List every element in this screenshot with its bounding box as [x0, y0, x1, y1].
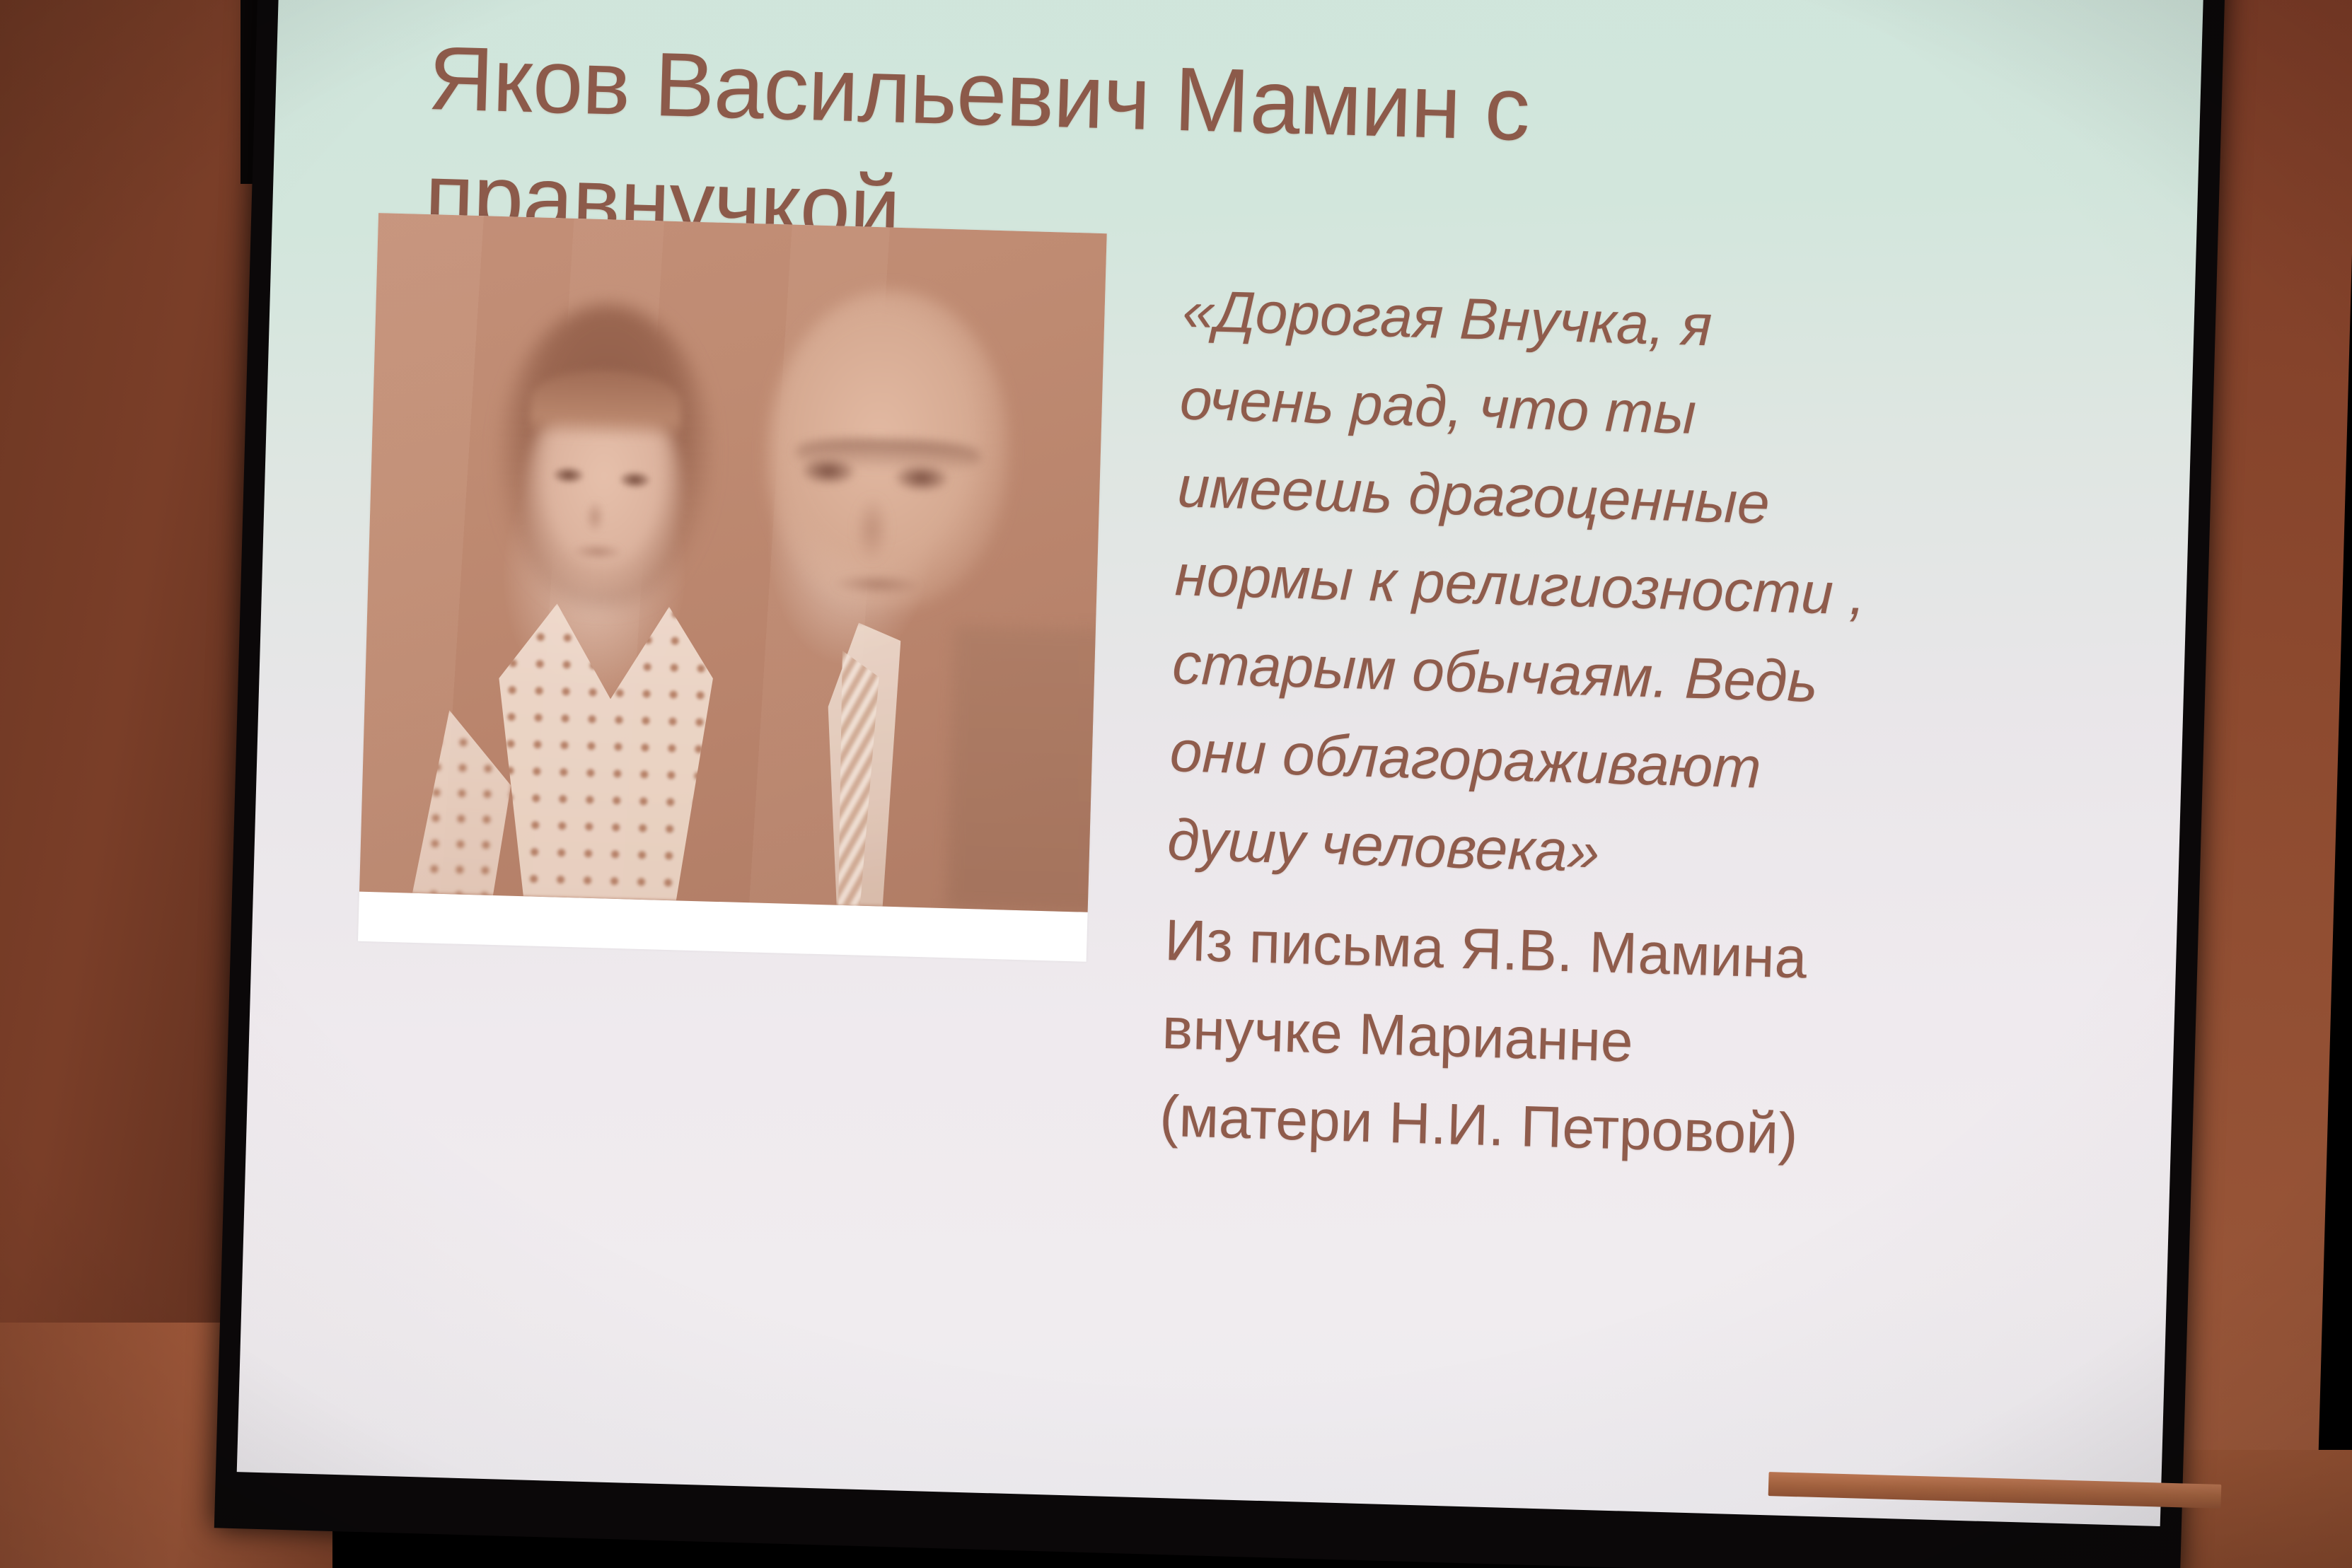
slide-quote: «Дорогая Внучка, я очень рад, что ты име… — [1166, 267, 1877, 904]
man-suit — [946, 625, 1107, 912]
girl-nose — [585, 501, 604, 534]
slide-attribution: Из письма Я.В. Мамина внучке Марианне (м… — [1159, 897, 1859, 1180]
photo-frame — [358, 213, 1107, 962]
archive-photo — [359, 213, 1107, 912]
man-mouth — [835, 574, 920, 595]
girl-mouth — [572, 544, 622, 559]
screenshot-stage: Яков Васильевич Мамин с правнучкой Наташ… — [0, 0, 2352, 1568]
man-nose — [856, 496, 889, 561]
presentation-slide: Яков Васильевич Мамин с правнучкой Наташ… — [237, 0, 2204, 1526]
